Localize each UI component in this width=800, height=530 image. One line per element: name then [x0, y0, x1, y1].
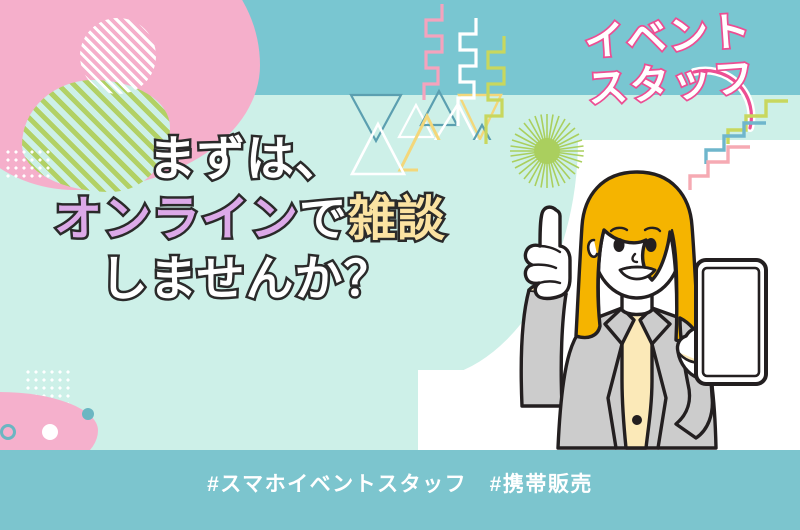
headline-online-segment: オンライン [54, 193, 299, 246]
headline-line-1: まずは、 [0, 130, 470, 190]
striped-circle [80, 18, 156, 94]
recruitment-banner: イベント スタッフ まずは、 オンラインで雑談 しませんか？ #スマホイベントス… [0, 0, 800, 530]
main-headline: まずは、 オンラインで雑談 しませんか？ [0, 130, 470, 310]
right-eye [646, 238, 657, 252]
teal-ring-decor [0, 424, 16, 440]
headline-line-3: しませんか？ [0, 250, 470, 310]
headline-line-2: オンラインで雑談 [0, 190, 470, 250]
phone-screen [703, 268, 759, 376]
businesswoman-illustration [500, 148, 800, 450]
headline-zatsudan-segment: 雑談 [348, 193, 446, 246]
catch-copy: イベント スタッフ [545, 6, 795, 117]
left-eye [614, 238, 625, 252]
pointing-hand [525, 207, 570, 298]
teal-dot-decor [82, 408, 94, 420]
white-circle-decor [42, 424, 58, 440]
raised-sleeve [521, 290, 566, 406]
headline-de-segment: で [299, 193, 348, 246]
footer-hashtags: #スマホイベントスタッフ #携帯販売 [0, 468, 800, 498]
